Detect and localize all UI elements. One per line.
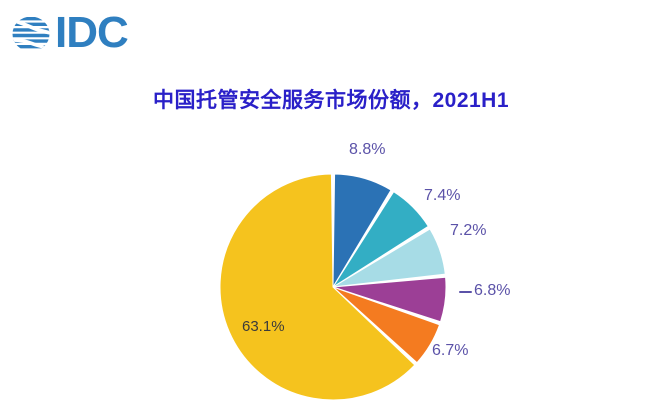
pie-slice-group bbox=[220, 174, 446, 400]
slice-label-1: 8.8% bbox=[349, 142, 385, 158]
idc-logo: IDC bbox=[8, 8, 128, 60]
pie-chart: 8.8% 7.4% 7.2% 6.8% 6.7% 63.1% bbox=[0, 128, 662, 410]
slice-label-2: 7.4% bbox=[424, 188, 460, 204]
slice-label-6: 63.1% bbox=[242, 319, 285, 334]
slice-label-4: 6.8% bbox=[474, 283, 510, 299]
chart-page: IDC 中国托管安全服务市场份额，2021H1 8.8% 7.4% 7.2% 6… bbox=[0, 0, 662, 410]
page-title: 中国托管安全服务市场份额，2021H1 bbox=[0, 84, 662, 114]
leader-line-icon bbox=[459, 291, 472, 293]
globe-icon bbox=[8, 11, 54, 57]
pie-chart-svg bbox=[0, 128, 662, 410]
slice-label-5: 6.7% bbox=[432, 343, 468, 359]
slice-label-3: 7.2% bbox=[450, 223, 486, 239]
idc-wordmark: IDC bbox=[55, 11, 128, 55]
